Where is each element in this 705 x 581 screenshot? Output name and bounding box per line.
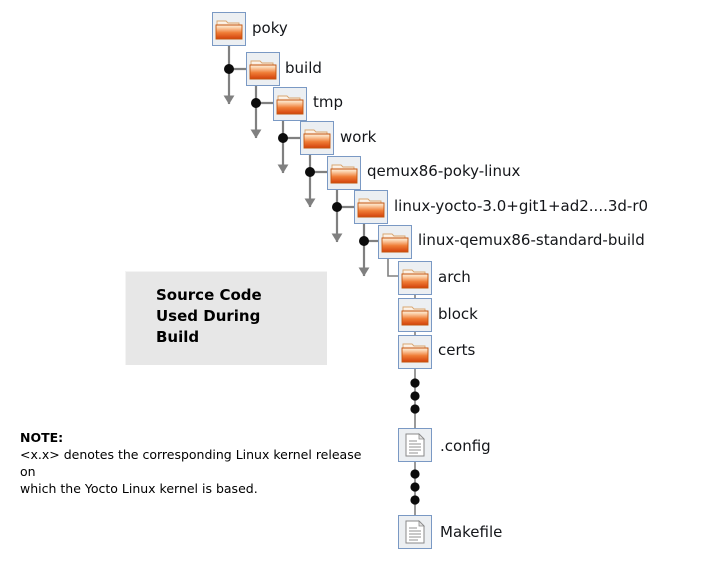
folder-icon [214, 14, 244, 44]
node-tmp[interactable] [273, 87, 307, 121]
folder-icon [302, 123, 332, 153]
node-label-certs: certs [438, 341, 475, 359]
node-block[interactable] [398, 298, 432, 332]
folder-icon [380, 227, 410, 257]
node-label-tmp: tmp [313, 93, 343, 111]
folder-icon [275, 89, 305, 119]
node-label-work: work [340, 128, 376, 146]
document-icon [400, 517, 430, 547]
note-block: NOTE: <x.x> denotes the corresponding Li… [20, 430, 380, 497]
node-label-poky: poky [252, 19, 288, 37]
folder-icon [248, 54, 278, 84]
folder-icon [356, 192, 386, 222]
node-label-block: block [438, 305, 478, 323]
node-build[interactable] [246, 52, 280, 86]
document-icon [400, 430, 430, 460]
folder-icon [400, 263, 430, 293]
source-code-callout-text: Source Code Used During Build [156, 285, 262, 348]
node-makefile[interactable] [398, 515, 432, 549]
note-body: <x.x> denotes the corresponding Linux ke… [20, 446, 380, 497]
node-work[interactable] [300, 121, 334, 155]
node-poky[interactable] [212, 12, 246, 46]
node-certs[interactable] [398, 335, 432, 369]
node-linux-qemux86-standard-build[interactable] [378, 225, 412, 259]
source-code-callout: Source Code Used During Build [125, 271, 327, 365]
node-label-makefile: Makefile [440, 523, 502, 541]
folder-icon [400, 337, 430, 367]
node-arch[interactable] [398, 261, 432, 295]
node-linux-yocto[interactable] [354, 190, 388, 224]
node-label-linux-yocto: linux-yocto-3.0+git1+ad2....3d-r0 [394, 197, 648, 215]
node-label-arch: arch [438, 268, 471, 286]
node-label-build: build [285, 59, 322, 77]
node-config-file[interactable] [398, 428, 432, 462]
directory-tree-diagram: poky build tmp work qemux86-poky-linux [0, 0, 705, 581]
node-label-linux-qemux86-standard-build: linux-qemux86-standard-build [418, 231, 645, 249]
node-qemux86-poky-linux[interactable] [327, 156, 361, 190]
node-label-config-file: .config [440, 437, 491, 455]
node-label-qemux86-poky-linux: qemux86-poky-linux [367, 162, 520, 180]
note-title: NOTE: [20, 430, 380, 446]
folder-icon [329, 158, 359, 188]
folder-icon [400, 300, 430, 330]
